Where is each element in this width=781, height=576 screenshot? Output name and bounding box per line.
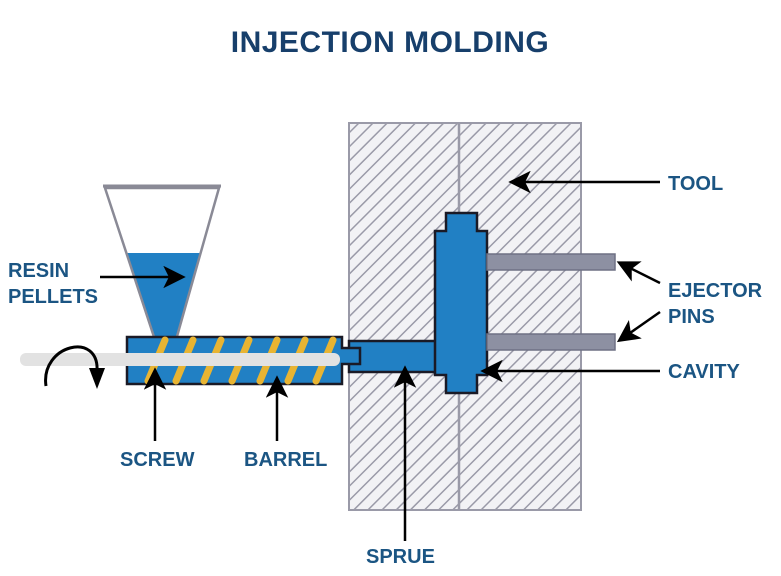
leader-ejector-lower — [620, 312, 660, 340]
label-ejector-pins-line2: PINS — [668, 306, 715, 328]
label-cavity: CAVITY — [668, 361, 741, 383]
cavity-part — [435, 213, 487, 393]
ejector-pin-lower — [487, 334, 615, 350]
page-title: INJECTION MOLDING — [231, 26, 550, 59]
diagram-canvas: INJECTION MOLDING — [0, 0, 781, 576]
label-screw: SCREW — [120, 449, 195, 471]
sprue-channel — [349, 341, 437, 372]
label-resin-pellets-line2: PELLETS — [8, 286, 98, 308]
hopper — [100, 180, 230, 353]
label-barrel: BARREL — [244, 449, 327, 471]
label-resin-pellets-line1: RESIN — [8, 260, 69, 282]
injection-molding-diagram: INJECTION MOLDING — [0, 0, 781, 576]
leader-ejector-upper — [620, 263, 660, 283]
label-tool: TOOL — [668, 173, 723, 195]
label-ejector-pins-line1: EJECTOR — [668, 280, 763, 302]
ejector-pin-upper — [487, 254, 615, 270]
label-sprue: SPRUE — [366, 546, 435, 568]
screw-shaft — [20, 353, 340, 366]
